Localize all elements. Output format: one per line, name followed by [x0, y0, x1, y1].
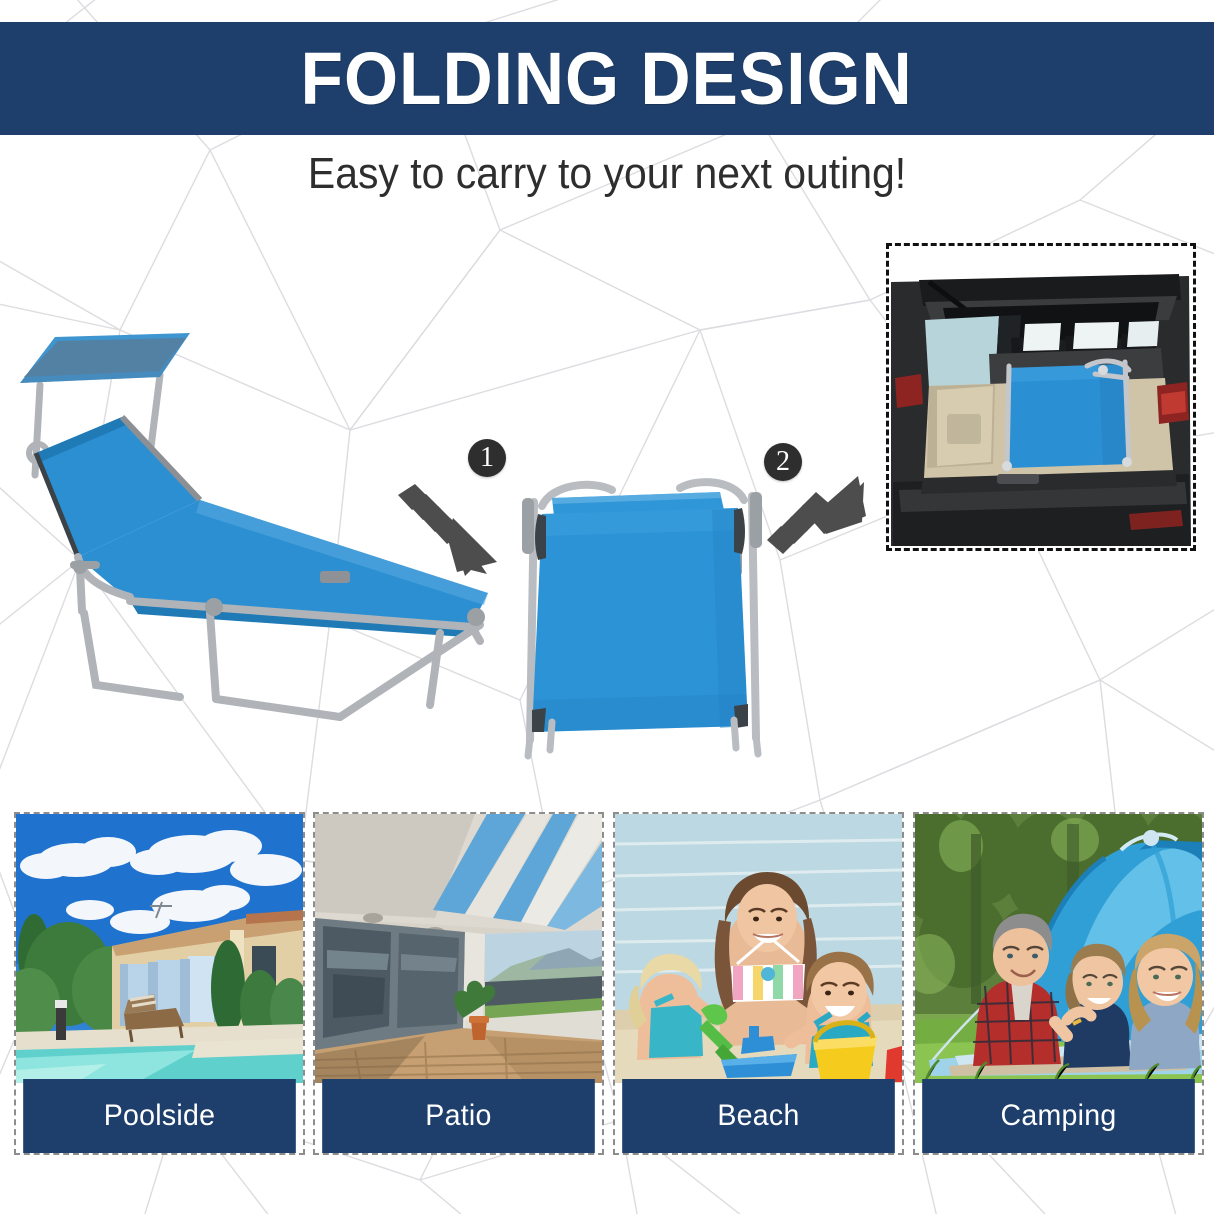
- use-case-card-patio[interactable]: Patio: [313, 812, 604, 1155]
- covered-patio-photo: [315, 814, 602, 1083]
- patio-photo-frame: [315, 814, 602, 1083]
- card-label-patio: Patio: [322, 1079, 595, 1153]
- step-number-1: 1: [480, 444, 494, 472]
- camping-photo-frame: [915, 814, 1202, 1083]
- down-right-arrow-icon: [395, 478, 505, 578]
- up-right-arrow-icon: [766, 468, 876, 568]
- folded-lounger-image: [512, 470, 774, 765]
- infographic-page: FOLDING DESIGN Easy to carry to your nex…: [0, 0, 1214, 1214]
- use-case-card-row: Poolside: [0, 812, 1214, 1158]
- poolside-photo-frame: [16, 814, 303, 1083]
- use-case-card-beach[interactable]: Beach: [613, 812, 904, 1155]
- villa-pool-photo: [16, 814, 303, 1083]
- page-subtitle: Easy to carry to your next outing!: [42, 150, 1171, 198]
- step-badge-2: 2: [764, 443, 802, 481]
- car-trunk-image: [889, 246, 1193, 548]
- beach-photo-frame: [615, 814, 902, 1083]
- family-beach-photo: [615, 814, 902, 1083]
- card-label-poolside: Poolside: [23, 1079, 296, 1153]
- use-case-card-poolside[interactable]: Poolside: [14, 812, 305, 1155]
- family-tent-photo: [915, 814, 1202, 1083]
- page-title: FOLDING DESIGN: [301, 42, 913, 116]
- step-badge-1: 1: [468, 439, 506, 477]
- card-label-camping: Camping: [922, 1079, 1195, 1153]
- header-banner: FOLDING DESIGN: [0, 22, 1214, 135]
- use-case-card-camping[interactable]: Camping: [913, 812, 1204, 1155]
- step-number-2: 2: [776, 448, 790, 476]
- car-trunk-panel: [886, 243, 1196, 551]
- card-label-beach: Beach: [622, 1079, 895, 1153]
